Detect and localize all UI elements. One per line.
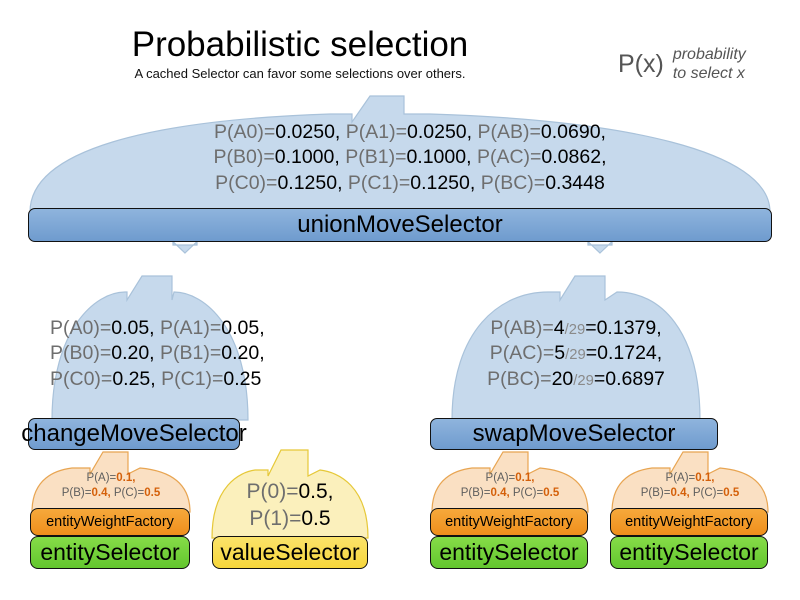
entity-weight-factory-label-1: entityWeightFactory — [46, 514, 174, 530]
prob-line: P(B)=0.4, P(C)=0.5 — [612, 486, 768, 501]
prob-label: P(C0)= — [50, 368, 112, 390]
change-probabilities: P(A0)=0.05, P(A1)=0.05,P(B0)=0.20, P(B1)… — [50, 316, 250, 392]
value-selector-label: valueSelector — [220, 539, 359, 566]
prob-label: P(AC)= — [490, 342, 554, 364]
prob-value: 0.4, — [670, 487, 692, 499]
prob-value: 0.5, — [298, 480, 333, 503]
entity-weight-factory-bar-1[interactable]: entityWeightFactory — [30, 508, 190, 536]
prob-value: 0.0250, — [275, 121, 345, 143]
union-probabilities: P(A0)=0.0250, P(A1)=0.0250, P(AB)=0.0690… — [100, 120, 720, 196]
prob-label: P(B1)= — [345, 146, 406, 168]
prob-value: 0.0250, — [407, 121, 477, 143]
prob-line: P(A)=0.1, — [32, 471, 190, 486]
prob-value: 0.1250, — [277, 172, 347, 194]
prob-value: 0.20, — [221, 342, 264, 364]
prob-label: P(A0)= — [50, 317, 111, 339]
prob-value: 0.1, — [116, 472, 135, 484]
prob-line: P(A)=0.1, — [612, 471, 768, 486]
prob-label: P(AB)= — [490, 317, 553, 339]
prob-value: 0.05, — [221, 317, 264, 339]
prob-line: P(AC)=5/29=0.1724, — [452, 341, 700, 366]
value-probabilities: P(0)=0.5,P(1)=0.5 — [212, 478, 368, 533]
union-move-selector-bar[interactable]: unionMoveSelector — [28, 208, 772, 242]
prob-value: 0.20, — [111, 342, 160, 364]
prob-value: 0.5 — [543, 487, 559, 499]
prob-value: 0.1, — [515, 472, 534, 484]
entity-probabilities-1: P(A)=0.1,P(B)=0.4, P(C)=0.5 — [32, 471, 190, 500]
prob-value: 0.4, — [91, 487, 113, 499]
entity-selector-label-3: entitySelector — [619, 539, 758, 566]
entity-weight-factory-label-3: entityWeightFactory — [625, 514, 753, 530]
entity-probabilities-3: P(A)=0.1,P(B)=0.4, P(C)=0.5 — [612, 471, 768, 500]
prob-label: P(A1)= — [160, 317, 221, 339]
prob-value: 0.5 — [301, 507, 330, 530]
prob-label: P(B0)= — [50, 342, 111, 364]
entity-selector-bar-3[interactable]: entitySelector — [610, 536, 768, 569]
prob-value: 0.4, — [490, 487, 512, 499]
change-move-selector-label: changeMoveSelector — [21, 420, 246, 448]
prob-label: P(A)= — [486, 472, 516, 484]
prob-label: P(A1)= — [346, 121, 407, 143]
prob-label: P(C)= — [114, 487, 144, 499]
prob-label: P(BC)= — [481, 172, 545, 194]
prob-label: P(B)= — [461, 487, 491, 499]
entity-selector-label-1: entitySelector — [40, 539, 179, 566]
prob-label: P(C)= — [693, 487, 723, 499]
swap-probabilities: P(AB)=4/29=0.1379,P(AC)=5/29=0.1724,P(BC… — [452, 316, 700, 392]
prob-value: 0.1250, — [410, 172, 480, 194]
prob-fraction: /29 — [573, 373, 594, 389]
prob-label: P(B)= — [641, 487, 671, 499]
prob-fraction: /29 — [565, 347, 586, 363]
prob-line: P(C0)=0.1250, P(C1)=0.1250, P(BC)=0.3448 — [100, 171, 720, 196]
prob-label: P(B0)= — [214, 146, 275, 168]
prob-line: P(C0)=0.25, P(C1)=0.25 — [50, 367, 250, 392]
swap-move-selector-label: swapMoveSelector — [473, 420, 676, 448]
prob-value: 0.25 — [223, 368, 261, 390]
diagram-canvas: Probabilistic selection A cached Selecto… — [0, 0, 800, 600]
prob-value: 0.05, — [111, 317, 160, 339]
prob-value: 0.5 — [144, 487, 160, 499]
prob-value: 4 — [554, 317, 565, 339]
entity-weight-factory-label-2: entityWeightFactory — [445, 514, 573, 530]
prob-label: P(C1)= — [348, 172, 410, 194]
prob-value: 5 — [554, 342, 565, 364]
prob-value: 0.3448 — [545, 172, 605, 194]
prob-value: 20 — [552, 368, 574, 390]
prob-label: P(B1)= — [160, 342, 221, 364]
change-move-selector-bar[interactable]: changeMoveSelector — [28, 418, 240, 450]
entity-selector-bar-2[interactable]: entitySelector — [430, 536, 588, 569]
prob-fraction: /29 — [565, 322, 586, 338]
prob-label: P(AB)= — [477, 121, 540, 143]
prob-value: 0.1000, — [275, 146, 345, 168]
prob-label: P(C)= — [513, 487, 543, 499]
entity-weight-factory-bar-2[interactable]: entityWeightFactory — [430, 508, 588, 536]
prob-value: =0.1724, — [586, 342, 662, 364]
prob-value: 0.5 — [723, 487, 739, 499]
prob-label: P(B)= — [62, 487, 92, 499]
prob-value: 0.1000, — [406, 146, 476, 168]
prob-line: P(0)=0.5, — [212, 478, 368, 505]
entity-probabilities-2: P(A)=0.1,P(B)=0.4, P(C)=0.5 — [432, 471, 588, 500]
prob-value: 0.0690, — [541, 121, 606, 143]
prob-label: P(0)= — [247, 480, 299, 503]
prob-label: P(1)= — [249, 507, 301, 530]
prob-line: P(A0)=0.05, P(A1)=0.05, — [50, 316, 250, 341]
prob-value: 0.0862, — [541, 146, 606, 168]
entity-weight-factory-bar-3[interactable]: entityWeightFactory — [610, 508, 768, 536]
prob-value: =0.1379, — [585, 317, 661, 339]
prob-line: P(B)=0.4, P(C)=0.5 — [32, 486, 190, 501]
prob-label: P(C0)= — [215, 172, 277, 194]
prob-label: P(A)= — [87, 472, 117, 484]
prob-label: P(A)= — [666, 472, 696, 484]
swap-move-selector-bar[interactable]: swapMoveSelector — [430, 418, 718, 450]
prob-line: P(B0)=0.1000, P(B1)=0.1000, P(AC)=0.0862… — [100, 145, 720, 170]
prob-line: P(B0)=0.20, P(B1)=0.20, — [50, 341, 250, 366]
prob-value: 0.1, — [695, 472, 714, 484]
prob-line: P(AB)=4/29=0.1379, — [452, 316, 700, 341]
prob-label: P(BC)= — [487, 368, 551, 390]
prob-label: P(AC)= — [477, 146, 541, 168]
union-move-selector-label: unionMoveSelector — [297, 211, 502, 239]
entity-selector-label-2: entitySelector — [439, 539, 578, 566]
prob-line: P(1)=0.5 — [212, 505, 368, 532]
prob-value: 0.25, — [112, 368, 161, 390]
prob-value: =0.6897 — [594, 368, 665, 390]
prob-label: P(C1)= — [161, 368, 223, 390]
prob-line: P(B)=0.4, P(C)=0.5 — [432, 486, 588, 501]
prob-line: P(BC)=20/29=0.6897 — [452, 367, 700, 392]
entity-selector-bar-1[interactable]: entitySelector — [30, 536, 190, 569]
prob-label: P(A0)= — [214, 121, 275, 143]
prob-line: P(A)=0.1, — [432, 471, 588, 486]
prob-line: P(A0)=0.0250, P(A1)=0.0250, P(AB)=0.0690… — [100, 120, 720, 145]
value-selector-bar[interactable]: valueSelector — [212, 536, 368, 569]
